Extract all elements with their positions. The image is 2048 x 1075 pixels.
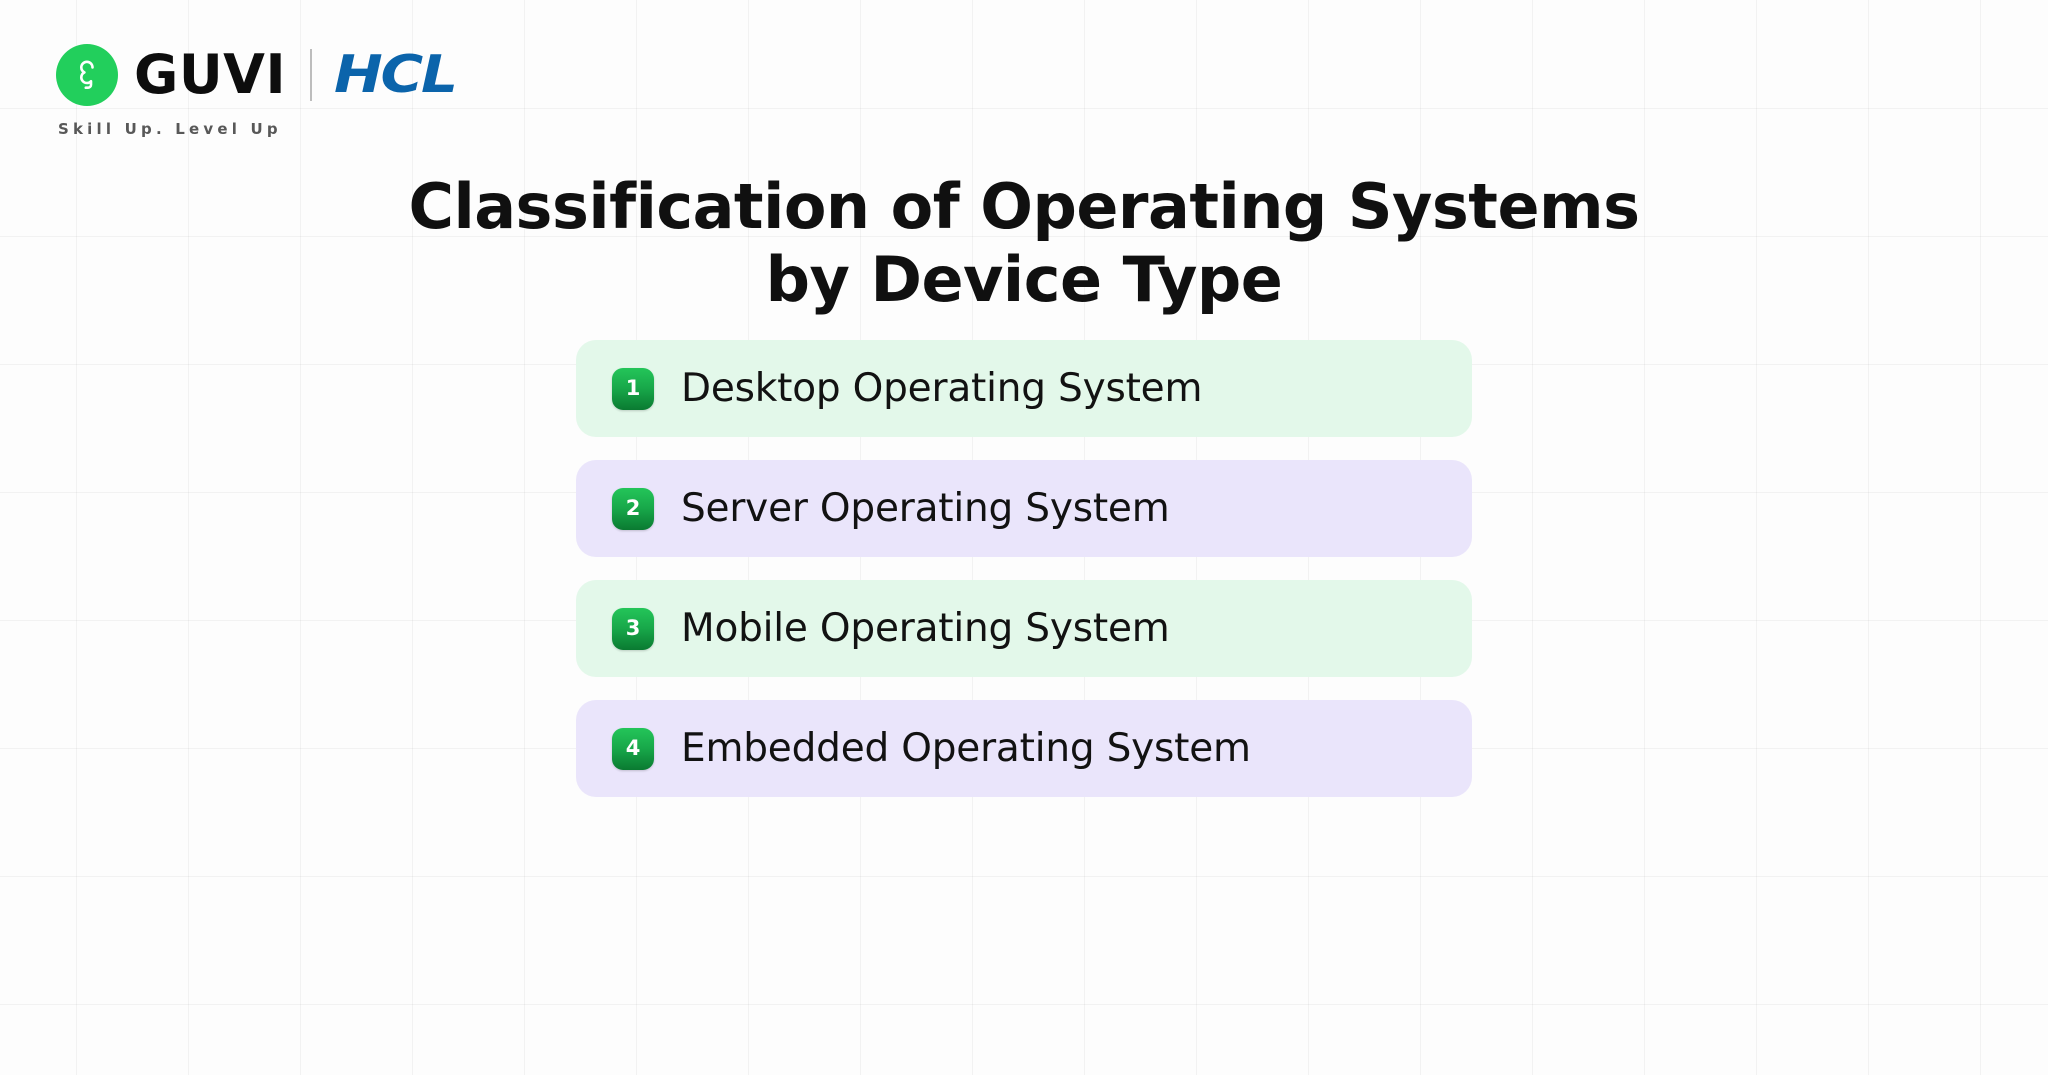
list-item-number-badge: 3 [612, 608, 654, 650]
os-type-list: 1 Desktop Operating System 2 Server Oper… [576, 340, 1472, 797]
list-item[interactable]: 1 Desktop Operating System [576, 340, 1472, 437]
list-item[interactable]: 2 Server Operating System [576, 460, 1472, 557]
list-item-number-badge: 2 [612, 488, 654, 530]
brand-logo-row: GUVI HCL [56, 44, 443, 106]
list-item-number-badge: 1 [612, 368, 654, 410]
list-item-number-badge: 4 [612, 728, 654, 770]
page-title: Classification of Operating Systems by D… [324, 170, 1724, 316]
list-item-label: Desktop Operating System [681, 369, 1202, 408]
list-item[interactable]: 4 Embedded Operating System [576, 700, 1472, 797]
list-item-label: Embedded Operating System [681, 729, 1251, 768]
guvi-g-mark-icon [56, 44, 118, 106]
brand-tagline: Skill Up. Level Up [58, 120, 282, 138]
brand-divider [310, 49, 312, 101]
list-item-label: Mobile Operating System [681, 609, 1170, 648]
guvi-wordmark: GUVI [134, 48, 286, 102]
list-item[interactable]: 3 Mobile Operating System [576, 580, 1472, 677]
hcl-wordmark: HCL [334, 49, 456, 101]
slide-canvas: GUVI HCL Skill Up. Level Up Classificati… [0, 0, 2048, 1075]
list-item-label: Server Operating System [681, 489, 1170, 528]
brand-lockup: GUVI HCL Skill Up. Level Up [56, 44, 443, 138]
